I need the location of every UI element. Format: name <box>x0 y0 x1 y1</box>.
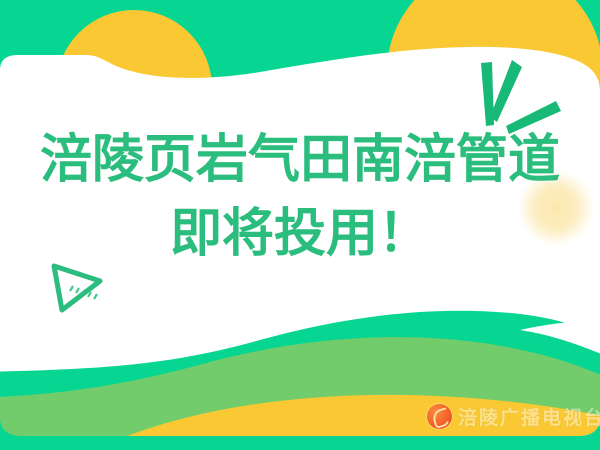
fuling-tv-logo-icon <box>427 404 452 429</box>
glow-circle <box>518 170 594 246</box>
watermark-station-name: 涪陵广播电视台 <box>458 403 600 430</box>
watermark: 涪陵广播电视台 <box>427 403 600 430</box>
poster-artwork <box>0 0 600 450</box>
promo-poster: 涪陵页岩气田南涪管道 即将投用！ 涪陵广播电视台 <box>0 0 600 450</box>
